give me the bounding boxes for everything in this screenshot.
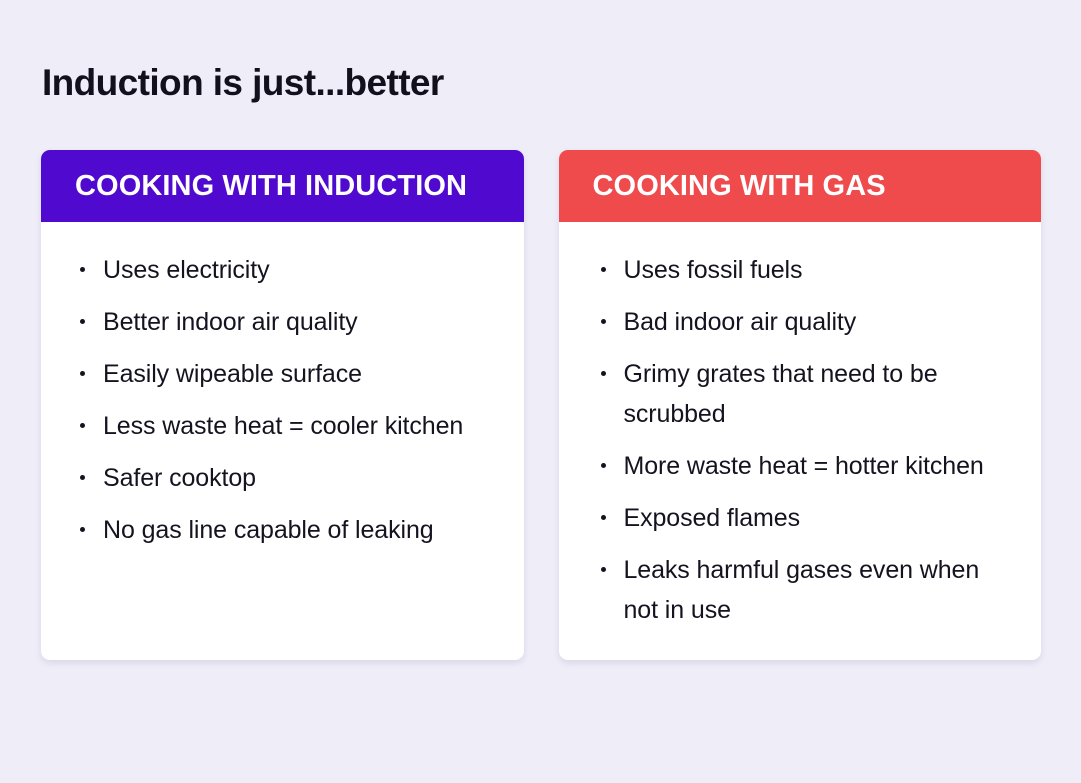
card-header-title-induction: COOKING WITH INDUCTION [75,169,467,203]
card-gas: COOKING WITH GAS Uses fossil fuels Bad i… [559,150,1042,660]
page-title: Induction is just...better [42,60,444,106]
list-item-label: Exposed flames [624,504,800,532]
bullet-list-gas: Uses fossil fuels Bad indoor air quality… [600,250,1016,630]
list-item-label: No gas line capable of leaking [103,516,434,544]
list-item-label: Uses fossil fuels [624,256,803,284]
bullet-dot-icon [80,319,85,324]
list-item-label: Better indoor air quality [103,308,358,336]
list-item-label: Grimy grates that need to be scrubbed [624,360,938,428]
list-item: Safer cooktop [79,458,498,498]
list-item: More waste heat = hotter kitchen [600,446,1016,486]
list-item-label: More waste heat = hotter kitchen [624,452,984,480]
list-item: Uses electricity [79,250,498,290]
bullet-list-induction: Uses electricity Better indoor air quali… [79,250,498,550]
list-item: Bad indoor air quality [600,302,1016,342]
list-item: Grimy grates that need to be scrubbed [600,354,1016,434]
list-item-label: Easily wipeable surface [103,360,362,388]
bullet-dot-icon [601,463,606,468]
card-body-induction: Uses electricity Better indoor air quali… [41,222,524,660]
list-item-label: Leaks harmful gases even when not in use [624,556,980,624]
comparison-infographic: Induction is just...better COOKING WITH … [0,0,1081,783]
comparison-cards: COOKING WITH INDUCTION Uses electricity … [41,150,1041,660]
bullet-dot-icon [601,267,606,272]
bullet-dot-icon [80,423,85,428]
bullet-dot-icon [601,515,606,520]
card-header-gas: COOKING WITH GAS [559,150,1042,222]
list-item-label: Safer cooktop [103,464,256,492]
list-item: Better indoor air quality [79,302,498,342]
bullet-dot-icon [80,475,85,480]
bullet-dot-icon [601,319,606,324]
list-item: Easily wipeable surface [79,354,498,394]
list-item: Leaks harmful gases even when not in use [600,550,1016,630]
list-item-label: Uses electricity [103,256,270,284]
card-header-title-gas: COOKING WITH GAS [593,169,886,203]
list-item: Uses fossil fuels [600,250,1016,290]
list-item: Less waste heat = cooler kitchen [79,406,498,446]
list-item: Exposed flames [600,498,1016,538]
bullet-dot-icon [601,567,606,572]
bullet-dot-icon [80,527,85,532]
bullet-dot-icon [80,267,85,272]
card-body-gas: Uses fossil fuels Bad indoor air quality… [559,222,1042,660]
list-item-label: Bad indoor air quality [624,308,857,336]
card-header-induction: COOKING WITH INDUCTION [41,150,524,222]
card-induction: COOKING WITH INDUCTION Uses electricity … [41,150,524,660]
list-item: No gas line capable of leaking [79,510,498,550]
bullet-dot-icon [601,371,606,376]
bullet-dot-icon [80,371,85,376]
list-item-label: Less waste heat = cooler kitchen [103,412,463,440]
